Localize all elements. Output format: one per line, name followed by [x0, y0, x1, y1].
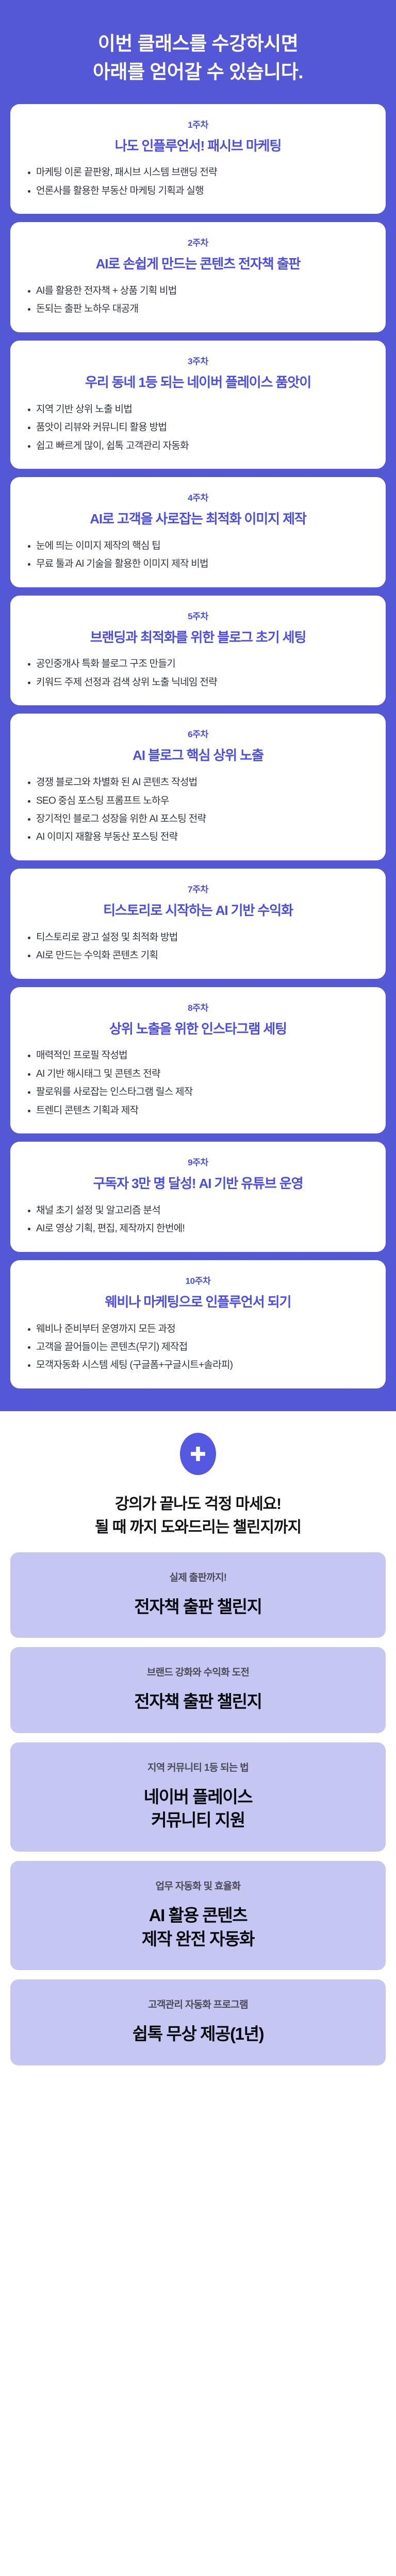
week-card: 7주차티스토리로 시작하는 AI 기반 수익화티스토리로 광고 설정 및 최적화…: [10, 869, 386, 979]
week-card-list: 1주차나도 인플루언서! 패시브 마케팅마케팅 이론 끝판왕, 패시브 시스템 …: [10, 104, 386, 1388]
week-point-list: 공인중개사 특화 블로그 구조 만들기키워드 주제 선정과 검색 상위 노출 닉…: [20, 656, 376, 690]
week-title: 우리 동네 1등 되는 네이버 플레이스 품앗이: [20, 374, 376, 392]
week-title: 나도 인플루언서! 패시브 마케팅: [20, 138, 376, 155]
benefit-title-line-1: AI 활용 콘텐츠: [20, 1904, 376, 1927]
week-point-list: 마케팅 이론 끝판왕, 패시브 시스템 브랜딩 전략언론사를 활용한 부동산 마…: [20, 165, 376, 198]
landing-page: 이번 클래스를 수강하시면 아래를 얻어갈 수 있습니다. 1주차나도 인플루언…: [0, 0, 396, 2092]
benefit-card: 지역 커뮤니티 1등 되는 법네이버 플레이스커뮤니티 지원: [10, 1742, 386, 1852]
week-point: 채널 초기 설정 및 알고리즘 분석: [27, 1203, 374, 1218]
hero-line-2: 아래를 얻어갈 수 있습니다.: [15, 58, 381, 87]
week-point-list: AI를 활용한 전자책 + 상품 기획 비법돈되는 출판 노하우 대공개: [20, 283, 376, 317]
week-point: 쉽고 빠르게 많이, 쉽톡 고객관리 자동화: [27, 438, 374, 453]
benefit-title-line-1: 전자책 출판 챌린지: [20, 1690, 376, 1714]
hero-line-1: 이번 클래스를 수강하시면: [15, 30, 381, 58]
week-card: 6주차AI 블로그 핵심 상위 노출경쟁 블로그와 차별화 된 AI 콘텐츠 작…: [10, 714, 386, 860]
week-label: 7주차: [20, 882, 376, 895]
challenge-section: 강의가 끝나도 걱정 마세요! 될 때 까지 도와드리는 챌린지까지 실제 출판…: [0, 1411, 396, 2092]
plus-icon: [189, 1445, 207, 1463]
week-title: 웨비나 마케팅으로 인플루언서 되기: [20, 1294, 376, 1311]
week-point: 키워드 주제 선정과 검색 상위 노출 닉네임 전략: [27, 675, 374, 690]
week-point: 눈에 띄는 이미지 제작의 핵심 팁: [27, 538, 374, 553]
week-point: AI를 활용한 전자책 + 상품 기획 비법: [27, 283, 374, 298]
benefit-title-line-2: 제작 완전 자동화: [20, 1927, 376, 1951]
benefit-title: 쉽톡 무상 제공(1년): [20, 2022, 376, 2046]
week-label: 2주차: [20, 235, 376, 248]
week-title: 상위 노출을 위한 인스타그램 세팅: [20, 1021, 376, 1038]
week-point: 고객을 끌어들이는 콘텐츠(무기) 제작접: [27, 1340, 374, 1354]
week-point: 지역 기반 상위 노출 비법: [27, 402, 374, 417]
week-label: 10주차: [20, 1274, 376, 1286]
page-title: 이번 클래스를 수강하시면 아래를 얻어갈 수 있습니다.: [10, 30, 386, 104]
week-label: 5주차: [20, 609, 376, 622]
benefit-title: 전자책 출판 챌린지: [20, 1595, 376, 1619]
week-point: 트렌디 콘텐츠 기획과 제작: [27, 1103, 374, 1118]
benefit-title-line-1: 네이버 플레이스: [20, 1785, 376, 1809]
week-label: 8주차: [20, 1001, 376, 1013]
week-point: AI 기반 해시태그 및 콘텐츠 전략: [27, 1066, 374, 1081]
week-point-list: 매력적인 프로필 작성법AI 기반 해시태그 및 콘텐츠 전략팔로워를 사로잡는…: [20, 1048, 376, 1118]
week-point: 티스토리로 광고 설정 및 최적화 방법: [27, 930, 374, 945]
benefit-kicker: 지역 커뮤니티 1등 되는 법: [20, 1760, 376, 1774]
week-point: 돈되는 출판 노하우 대공개: [27, 301, 374, 316]
week-point: SEO 중심 포스팅 프롬프트 노하우: [27, 793, 374, 808]
week-point: 품앗이 리뷰와 커뮤니티 활용 방법: [27, 420, 374, 435]
week-point: AI 이미지 재활용 부동산 포스팅 전략: [27, 829, 374, 844]
plus-badge: [180, 1433, 216, 1475]
benefit-kicker: 업무 자동화 및 효율화: [20, 1878, 376, 1892]
week-title: 브랜딩과 최적화를 위한 블로그 초기 세팅: [20, 629, 376, 647]
benefit-card: 실제 출판까지!전자책 출판 챌린지: [10, 1552, 386, 1638]
week-label: 1주차: [20, 117, 376, 130]
week-card: 9주차구독자 3만 명 달성! AI 기반 유튜브 운영채널 초기 설정 및 알…: [10, 1142, 386, 1252]
week-point: AI로 만드는 수익화 콘텐츠 기획: [27, 948, 374, 963]
week-label: 4주차: [20, 490, 376, 503]
week-point-list: 웨비나 준비부터 운영까지 모든 과정고객을 끌어들이는 콘텐츠(무기) 제작접…: [20, 1321, 376, 1373]
benefit-title: 네이버 플레이스커뮤니티 지원: [20, 1785, 376, 1832]
week-label: 6주차: [20, 727, 376, 740]
week-point: 웨비나 준비부터 운영까지 모든 과정: [27, 1321, 374, 1336]
week-card: 1주차나도 인플루언서! 패시브 마케팅마케팅 이론 끝판왕, 패시브 시스템 …: [10, 104, 386, 214]
week-title: AI 블로그 핵심 상위 노출: [20, 747, 376, 765]
benefit-card: 업무 자동화 및 효율화AI 활용 콘텐츠제작 완전 자동화: [10, 1861, 386, 1970]
week-point: 모객자동화 시스템 세팅 (구글폼+구글시트+솔라피): [27, 1358, 374, 1372]
week-title: 티스토리로 시작하는 AI 기반 수익화: [20, 902, 376, 920]
benefit-card: 브랜드 강화와 수익화 도전전자책 출판 챌린지: [10, 1647, 386, 1733]
week-point: 매력적인 프로필 작성법: [27, 1048, 374, 1063]
week-card: 8주차상위 노출을 위한 인스타그램 세팅매력적인 프로필 작성법AI 기반 해…: [10, 987, 386, 1134]
week-card: 10주차웨비나 마케팅으로 인플루언서 되기웨비나 준비부터 운영까지 모든 과…: [10, 1260, 386, 1388]
plus-badge-wrap: [10, 1433, 386, 1475]
week-point: 무료 툴과 AI 기술을 활용한 이미지 제작 비법: [27, 556, 374, 571]
week-card: 5주차브랜딩과 최적화를 위한 블로그 초기 세팅공인중개사 특화 블로그 구조…: [10, 596, 386, 706]
week-point: AI로 영상 기획, 편집, 제작까지 한번에!: [27, 1221, 374, 1236]
benefit-title-line-1: 쉽톡 무상 제공(1년): [20, 2022, 376, 2046]
week-label: 3주차: [20, 354, 376, 367]
challenge-heading-line-1: 강의가 끝나도 걱정 마세요!: [10, 1493, 386, 1516]
curriculum-section: 이번 클래스를 수강하시면 아래를 얻어갈 수 있습니다. 1주차나도 인플루언…: [0, 0, 396, 1411]
benefit-title-line-2: 커뮤니티 지원: [20, 1808, 376, 1832]
week-card: 2주차AI로 손쉽게 만드는 콘텐츠 전자책 출판AI를 활용한 전자책 + 상…: [10, 222, 386, 332]
challenge-heading-line-2: 될 때 까지 도와드리는 챌린지까지: [10, 1516, 386, 1539]
week-point: 경쟁 블로그와 차별화 된 AI 콘텐츠 작성법: [27, 775, 374, 790]
week-title: AI로 손쉽게 만드는 콘텐츠 전자책 출판: [20, 256, 376, 273]
benefit-title: 전자책 출판 챌린지: [20, 1690, 376, 1714]
benefit-title-line-1: 전자책 출판 챌린지: [20, 1595, 376, 1619]
week-point-list: 티스토리로 광고 설정 및 최적화 방법AI로 만드는 수익화 콘텐츠 기획: [20, 930, 376, 963]
benefit-card: 고객관리 자동화 프로그램쉽톡 무상 제공(1년): [10, 1979, 386, 2065]
week-title: AI로 고객을 사로잡는 최적화 이미지 제작: [20, 511, 376, 528]
benefit-kicker: 실제 출판까지!: [20, 1570, 376, 1584]
week-point: 팔로워를 사로잡는 인스타그램 릴스 제작: [27, 1084, 374, 1099]
week-point: 마케팅 이론 끝판왕, 패시브 시스템 브랜딩 전략: [27, 165, 374, 180]
week-point-list: 지역 기반 상위 노출 비법품앗이 리뷰와 커뮤니티 활용 방법쉽고 빠르게 많…: [20, 402, 376, 453]
week-card: 4주차AI로 고객을 사로잡는 최적화 이미지 제작눈에 띄는 이미지 제작의 …: [10, 477, 386, 587]
week-point-list: 경쟁 블로그와 차별화 된 AI 콘텐츠 작성법SEO 중심 포스팅 프롬프트 …: [20, 775, 376, 845]
benefit-kicker: 브랜드 강화와 수익화 도전: [20, 1665, 376, 1679]
benefit-card-list: 실제 출판까지!전자책 출판 챌린지브랜드 강화와 수익화 도전전자책 출판 챌…: [10, 1552, 386, 2065]
week-label: 9주차: [20, 1155, 376, 1168]
week-point: 장기적인 블로그 성장을 위한 AI 포스팅 전략: [27, 811, 374, 826]
week-point: 언론사를 활용한 부동산 마케팅 기획과 실행: [27, 183, 374, 198]
week-card: 3주차우리 동네 1등 되는 네이버 플레이스 품앗이지역 기반 상위 노출 비…: [10, 341, 386, 469]
week-point: 공인중개사 특화 블로그 구조 만들기: [27, 656, 374, 671]
benefit-title: AI 활용 콘텐츠제작 완전 자동화: [20, 1904, 376, 1951]
week-title: 구독자 3만 명 달성! AI 기반 유튜브 운영: [20, 1175, 376, 1193]
week-point-list: 채널 초기 설정 및 알고리즘 분석AI로 영상 기획, 편집, 제작까지 한번…: [20, 1203, 376, 1236]
week-point-list: 눈에 띄는 이미지 제작의 핵심 팁무료 툴과 AI 기술을 활용한 이미지 제…: [20, 538, 376, 572]
challenge-heading: 강의가 끝나도 걱정 마세요! 될 때 까지 도와드리는 챌린지까지: [10, 1493, 386, 1539]
benefit-kicker: 고객관리 자동화 프로그램: [20, 1997, 376, 2011]
